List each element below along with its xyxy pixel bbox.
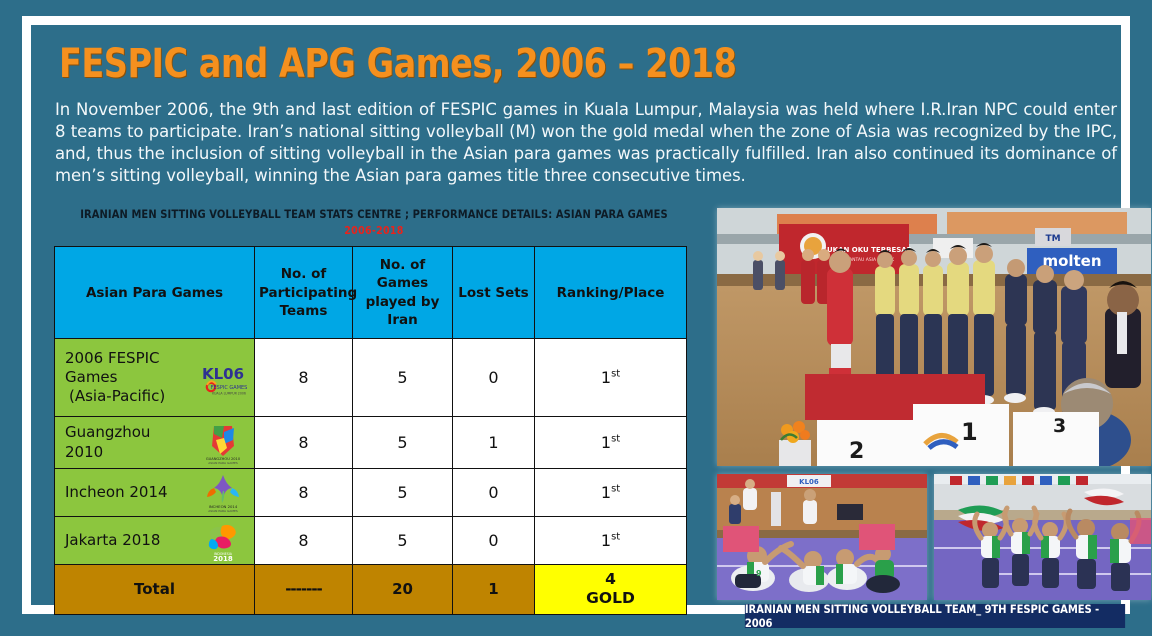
- header-ranking-place: Ranking/Place: [535, 247, 687, 339]
- table-caption-years: 2006-2018: [344, 224, 403, 237]
- cell-games-played: 5: [353, 468, 453, 516]
- cell-games-played: 5: [353, 339, 453, 417]
- total-lost-sets: 1: [453, 564, 535, 614]
- table-header-row: Asian Para Games No. of Participating Te…: [55, 247, 687, 339]
- cell-lost-sets: 0: [453, 516, 535, 564]
- svg-text:9: 9: [756, 569, 762, 578]
- cell-game-name: 2006 FESPIC Games (Asia-Pacific) KL06 FE…: [55, 339, 255, 417]
- table-row: 2006 FESPIC Games (Asia-Pacific) KL06 FE…: [55, 339, 687, 417]
- asian-para-games-table: Asian Para Games No. of Participating Te…: [54, 246, 687, 614]
- cell-game-name: Guangzhou 2010 GUANGZHOU 2010 ASIAN PARA…: [55, 417, 255, 468]
- cell-games-played: 5: [353, 516, 453, 564]
- table-row: Incheon 2014 INCHEON 2014 ASIAN PARA GAM…: [55, 468, 687, 516]
- header-participating-teams: No. of Participating Teams: [255, 247, 353, 339]
- table-row: Guangzhou 2010 GUANGZHOU 2010 ASIAN PARA…: [55, 417, 687, 468]
- rank-suffix: st: [611, 369, 620, 380]
- table-total-row: Total ------- 20 1 4GOLD: [55, 564, 687, 614]
- photo-gallery: SUKAN OKU TERBESAR DI RANTAU ASIA PASIFI…: [717, 208, 1151, 624]
- intro-paragraph: In November 2006, the 9th and last editi…: [55, 99, 1117, 187]
- svg-text:2: 2: [849, 439, 864, 464]
- photo-caption-text: IRANIAN MEN SITTING VOLLEYBALL TEAM_ 9TH…: [745, 602, 1125, 630]
- rank-suffix: st: [611, 434, 620, 445]
- kl06-fespic-logo: KL06 FESPIC GAMES KUALA LUMPUR 2006: [198, 355, 248, 401]
- game-name-main: Guangzhou 2010: [65, 423, 150, 460]
- total-participating-teams: -------: [255, 564, 353, 614]
- svg-text:3: 3: [1053, 415, 1066, 437]
- game-name-main: Jakarta 2018: [65, 531, 160, 549]
- cell-participating-teams: 8: [255, 339, 353, 417]
- cell-participating-teams: 8: [255, 417, 353, 468]
- total-gold-medals: 4GOLD: [535, 564, 687, 614]
- cell-ranking: 1st: [535, 516, 687, 564]
- sitting-volleyball-celebration-photo: KL06 9: [717, 474, 927, 600]
- photo-caption-bar: IRANIAN MEN SITTING VOLLEYBALL TEAM_ 9TH…: [745, 604, 1125, 628]
- page-title: FESPIC and APG Games, 2006 – 2018: [59, 41, 736, 87]
- cell-participating-teams: 8: [255, 516, 353, 564]
- cell-lost-sets: 0: [453, 468, 535, 516]
- jakarta-2018-logo: INDONESIA 2018: [198, 517, 248, 563]
- rank-number: 1: [601, 531, 611, 550]
- svg-text:FESPIC GAMES: FESPIC GAMES: [211, 385, 248, 391]
- table-caption: IRANIAN MEN SITTING VOLLEYBALL TEAM STAT…: [67, 207, 681, 238]
- medal-ceremony-podium-photo: SUKAN OKU TERBESAR DI RANTAU ASIA PASIFI…: [717, 208, 1151, 466]
- svg-text:2018: 2018: [213, 555, 233, 563]
- team-celebration-flag-photo: [934, 474, 1151, 600]
- header-games-played: No. of Games played by Iran: [353, 247, 453, 339]
- game-name-main: Incheon 2014: [65, 483, 168, 501]
- cell-games-played: 5: [353, 417, 453, 468]
- cell-ranking: 1st: [535, 339, 687, 417]
- total-label: Total: [55, 564, 255, 614]
- rank-suffix: st: [611, 483, 620, 494]
- cell-lost-sets: 0: [453, 339, 535, 417]
- svg-text:KL06: KL06: [202, 365, 244, 383]
- game-name-main: 2006 FESPIC Games: [65, 349, 160, 386]
- rank-number: 1: [601, 368, 611, 387]
- rank-number: 1: [601, 483, 611, 502]
- incheon-2014-logo: INCHEON 2014 ASIAN PARA GAMES: [198, 469, 248, 515]
- rank-suffix: st: [611, 531, 620, 542]
- cell-game-name: Jakarta 2018 INDONESIA 2018: [55, 516, 255, 564]
- svg-text:molten: molten: [1042, 252, 1101, 270]
- svg-text:KL06: KL06: [799, 478, 819, 486]
- svg-text:TM: TM: [1045, 234, 1060, 244]
- rank-number: 1: [601, 433, 611, 452]
- svg-text:1: 1: [961, 418, 978, 446]
- table-caption-line1: IRANIAN MEN SITTING VOLLEYBALL TEAM STAT…: [80, 207, 668, 221]
- total-games-played: 20: [353, 564, 453, 614]
- header-lost-sets: Lost Sets: [453, 247, 535, 339]
- cell-ranking: 1st: [535, 468, 687, 516]
- svg-text:ASIAN PARA GAMES: ASIAN PARA GAMES: [208, 509, 238, 513]
- stats-table-block: IRANIAN MEN SITTING VOLLEYBALL TEAM STAT…: [54, 207, 694, 615]
- cell-participating-teams: 8: [255, 468, 353, 516]
- header-asian-para-games: Asian Para Games: [55, 247, 255, 339]
- cell-lost-sets: 1: [453, 417, 535, 468]
- gold-label: GOLD: [586, 589, 635, 607]
- table-row: Jakarta 2018 INDONESIA 2018: [55, 516, 687, 564]
- game-name-sub: (Asia-Pacific): [65, 387, 192, 406]
- slide-frame: FESPIC and APG Games, 2006 – 2018 In Nov…: [22, 16, 1130, 614]
- svg-text:KUALA LUMPUR 2006: KUALA LUMPUR 2006: [212, 391, 246, 395]
- cell-ranking: 1st: [535, 417, 687, 468]
- slide-body: FESPIC and APG Games, 2006 – 2018 In Nov…: [31, 25, 1121, 605]
- guangzhou-2010-logo: GUANGZHOU 2010 ASIAN PARA GAMES: [198, 420, 248, 466]
- svg-text:ASIAN PARA GAMES: ASIAN PARA GAMES: [208, 461, 238, 465]
- gold-count: 4: [605, 570, 616, 588]
- cell-game-name: Incheon 2014 INCHEON 2014 ASIAN PARA GAM…: [55, 468, 255, 516]
